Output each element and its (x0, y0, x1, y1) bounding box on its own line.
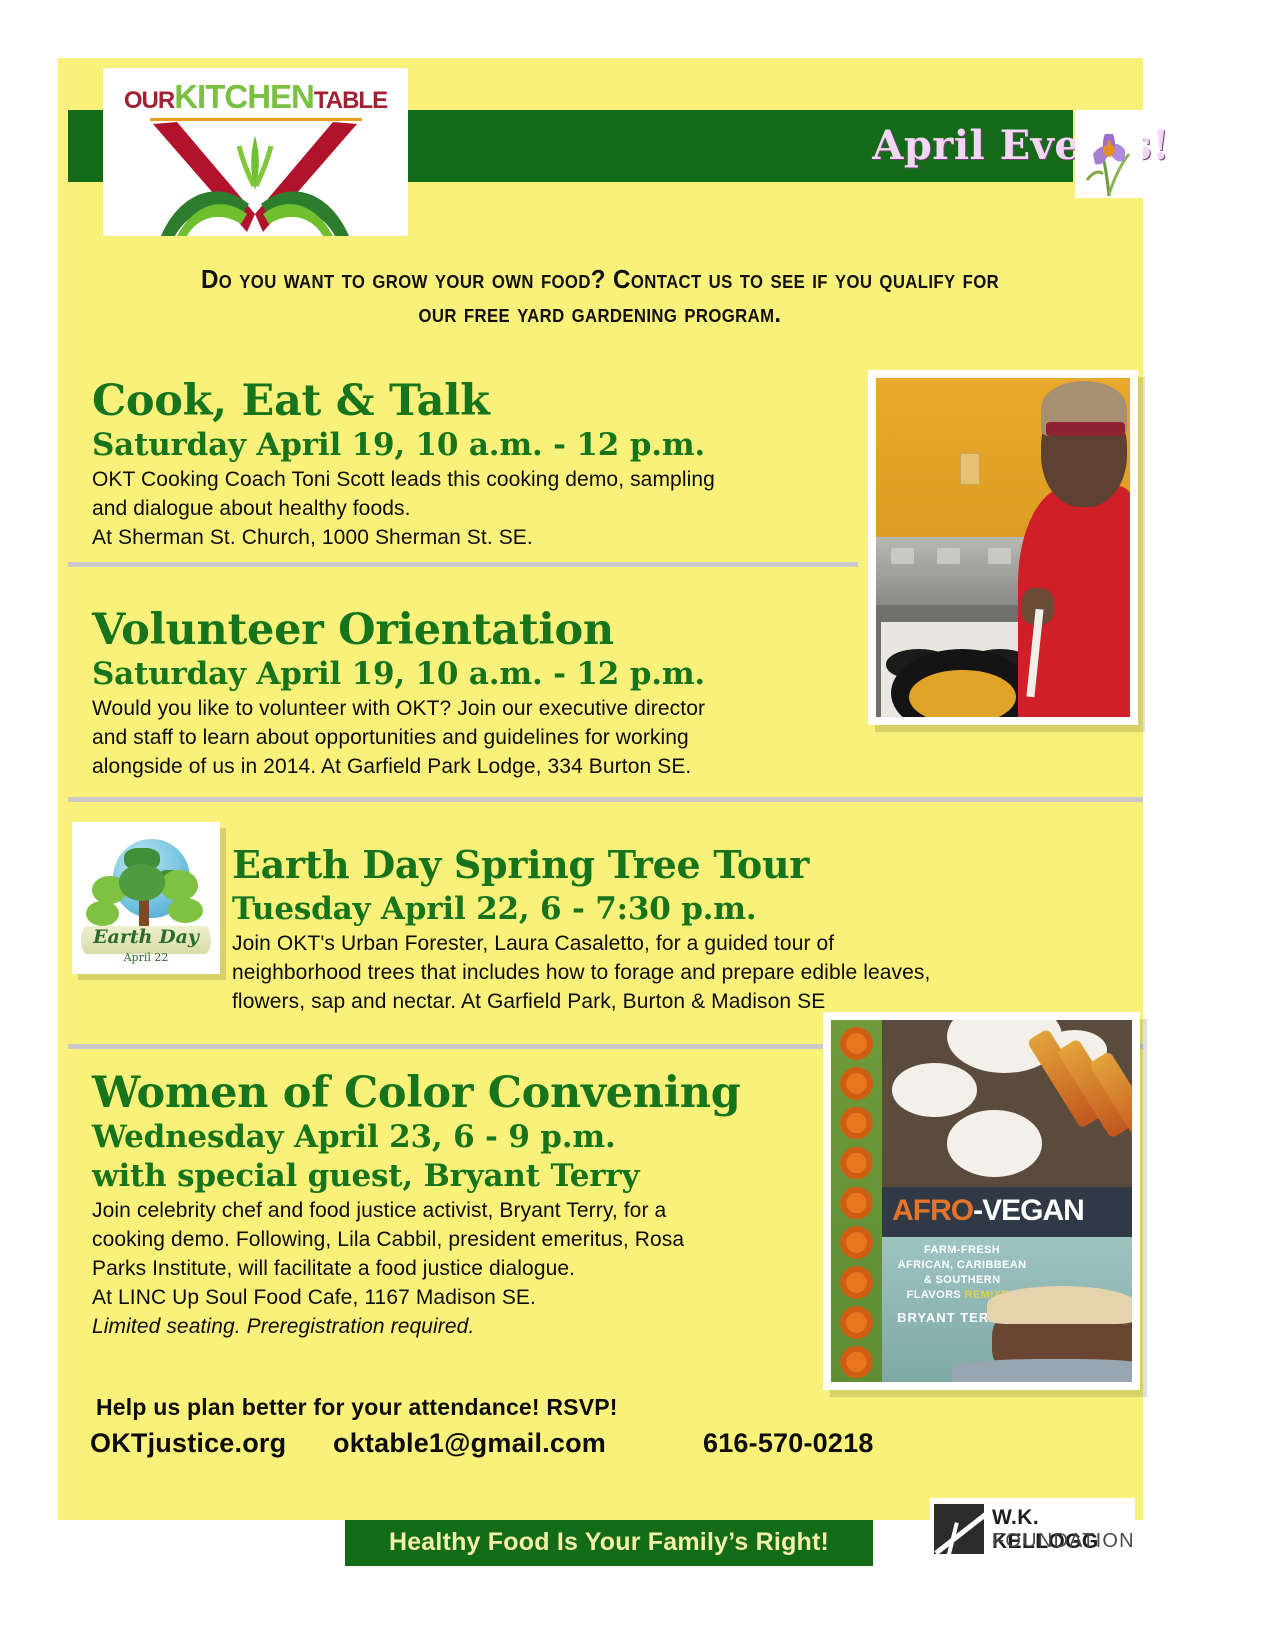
event-title: Women of Color Convening (92, 1068, 741, 1118)
event-description-line: Join OKT's Urban Forester, Laura Casalet… (232, 929, 930, 958)
event-description-line: and dialogue about healthy foods. (92, 494, 715, 523)
separator-2 (68, 797, 1143, 802)
earth-day-logo: Earth Day April 22 (72, 822, 220, 974)
book-cover-title: AFRO-VEGAN (892, 1194, 1084, 1228)
book-cover-food-photo (882, 1020, 1132, 1187)
book-cover-author-photo: FARM-FRESH AFRICAN, CARIBBEAN & SOUTHERN… (882, 1237, 1132, 1382)
event-description-line: OKT Cooking Coach Toni Scott leads this … (92, 465, 715, 494)
logo-table: TABLE (314, 87, 387, 114)
book-cover-title-band: AFRO-VEGAN (882, 1187, 1132, 1238)
cooking-demo-photo (868, 370, 1138, 725)
kellogg-mark-icon (934, 1504, 984, 1554)
organization-logo: OURKITCHENTABLE (103, 68, 408, 236)
afro-vegan-book-cover: AFRO-VEGAN FARM-FRESH AFRICAN, CARIBBEAN… (823, 1012, 1140, 1390)
event-description-line: neighborhood trees that includes how to … (232, 958, 930, 987)
event-title: Cook, Eat & Talk (92, 376, 715, 426)
phone-number[interactable]: 616-570-0218 (703, 1428, 874, 1459)
earth-day-logo-image: Earth Day April 22 (78, 828, 214, 968)
earth-day-logo-date: April 22 (78, 951, 214, 964)
kellogg-name-line2: FOUNDATION (992, 1530, 1135, 1553)
contact-row: OKTjustice.org oktable1@gmail.com 616-57… (90, 1428, 920, 1464)
event-datetime: Wednesday April 23, 6 - 9 p.m. (92, 1118, 741, 1157)
book-title-vegan: -VEGAN (973, 1194, 1084, 1227)
book-subtitle-line: & SOUTHERN (892, 1273, 1032, 1288)
event-title: Earth Day Spring Tree Tour (232, 840, 930, 890)
book-title-afro: AFRO (892, 1194, 973, 1227)
kellogg-foundation-logo: W.K. KELLOGG FOUNDATION (930, 1498, 1135, 1560)
event-description-line: Parks Institute, will facilitate a food … (92, 1254, 741, 1283)
book-cover-pattern-border (831, 1020, 882, 1382)
event-block-earth-day-tree-tour: Earth Day Spring Tree Tour Tuesday April… (232, 840, 930, 1016)
event-description: Join OKT's Urban Forester, Laura Casalet… (232, 929, 930, 1016)
event-block-volunteer-orientation: Volunteer Orientation Saturday April 19,… (92, 605, 705, 781)
email-link[interactable]: oktable1@gmail.com (333, 1428, 606, 1459)
cooking-demo-photo-image (876, 378, 1130, 717)
footer-tagline: Healthy Food Is Your Family’s Right! (345, 1528, 873, 1557)
event-datetime: Saturday April 19, 10 a.m. - 12 p.m. (92, 655, 705, 694)
flyer-page: April Events! OURKITCHENTABLE (0, 0, 1275, 1650)
earth-day-logo-name: Earth Day (78, 926, 214, 948)
event-description-line: alongside of us in 2014. At Garfield Par… (92, 752, 705, 781)
logo-wordmark: OURKITCHENTABLE (103, 78, 408, 116)
event-block-cook-eat-talk: Cook, Eat & Talk Saturday April 19, 10 a… (92, 376, 715, 552)
logo-our: OUR (124, 87, 174, 114)
logo-kitchen: KITCHEN (174, 78, 314, 115)
event-description-line: Join celebrity chef and food justice act… (92, 1196, 741, 1225)
event-registration-note: Limited seating. Preregistration require… (92, 1312, 741, 1341)
event-description: Join celebrity chef and food justice act… (92, 1196, 741, 1341)
intro-text: Do you want to grow your own food? Conta… (182, 262, 1019, 330)
event-block-women-of-color-convening: Women of Color Convening Wednesday April… (92, 1068, 741, 1341)
event-special-guest: with special guest, Bryant Terry (92, 1157, 741, 1196)
logo-leaf-mark (143, 118, 368, 236)
event-description-line: and staff to learn about opportunities a… (92, 723, 705, 752)
event-description-line: cooking demo. Following, Lila Cabbil, pr… (92, 1225, 741, 1254)
event-datetime: Tuesday April 22, 6 - 7:30 p.m. (232, 890, 930, 929)
website-link[interactable]: OKTjustice.org (90, 1428, 286, 1459)
event-description: Would you like to volunteer with OKT? Jo… (92, 694, 705, 781)
book-subtitle-line: FARM-FRESH (892, 1243, 1032, 1258)
separator-1 (68, 562, 858, 567)
event-description-line: Would you like to volunteer with OKT? Jo… (92, 694, 705, 723)
event-datetime: Saturday April 19, 10 a.m. - 12 p.m. (92, 426, 715, 465)
book-subtitle-line: AFRICAN, CARIBBEAN (892, 1258, 1032, 1273)
event-title: Volunteer Orientation (92, 605, 705, 655)
rsvp-message: Help us plan better for your attendance!… (96, 1394, 618, 1421)
event-description: OKT Cooking Coach Toni Scott leads this … (92, 465, 715, 552)
event-description-line: At Sherman St. Church, 1000 Sherman St. … (92, 523, 715, 552)
afro-vegan-book-cover-image: AFRO-VEGAN FARM-FRESH AFRICAN, CARIBBEAN… (831, 1020, 1132, 1382)
event-description-line: At LINC Up Soul Food Cafe, 1167 Madison … (92, 1283, 741, 1312)
crocus-flower-icon (1075, 110, 1143, 198)
